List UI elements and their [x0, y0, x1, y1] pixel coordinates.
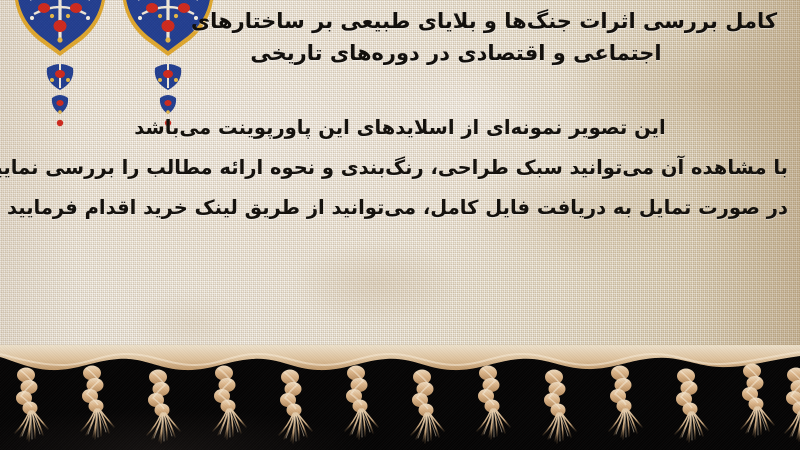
page-title: کامل بررسی اثرات جنگ‌ها و بلایای طبیعی ب…: [186, 6, 782, 70]
body-line-3: در صورت تمایل به دریافت فایل کامل، می‌تو…: [12, 188, 788, 228]
fringe-tassels-icon: [0, 345, 800, 450]
carpet-fringe-border: [0, 345, 800, 450]
title-line-2: اجتماعی و اقتصادی در دوره‌های تاریخی: [186, 38, 726, 70]
slide-body-text: این تصویر نمونه‌ای از اسلایدهای این پاور…: [12, 108, 788, 228]
title-line-1: کامل بررسی اثرات جنگ‌ها و بلایای طبیعی ب…: [186, 6, 782, 38]
slide-canvas: کامل بررسی اثرات جنگ‌ها و بلایای طبیعی ب…: [0, 0, 800, 450]
body-line-1: این تصویر نمونه‌ای از اسلایدهای این پاور…: [12, 108, 788, 148]
body-line-2: با مشاهده آن می‌توانید سبک طراحی، رنگ‌بن…: [12, 148, 788, 188]
